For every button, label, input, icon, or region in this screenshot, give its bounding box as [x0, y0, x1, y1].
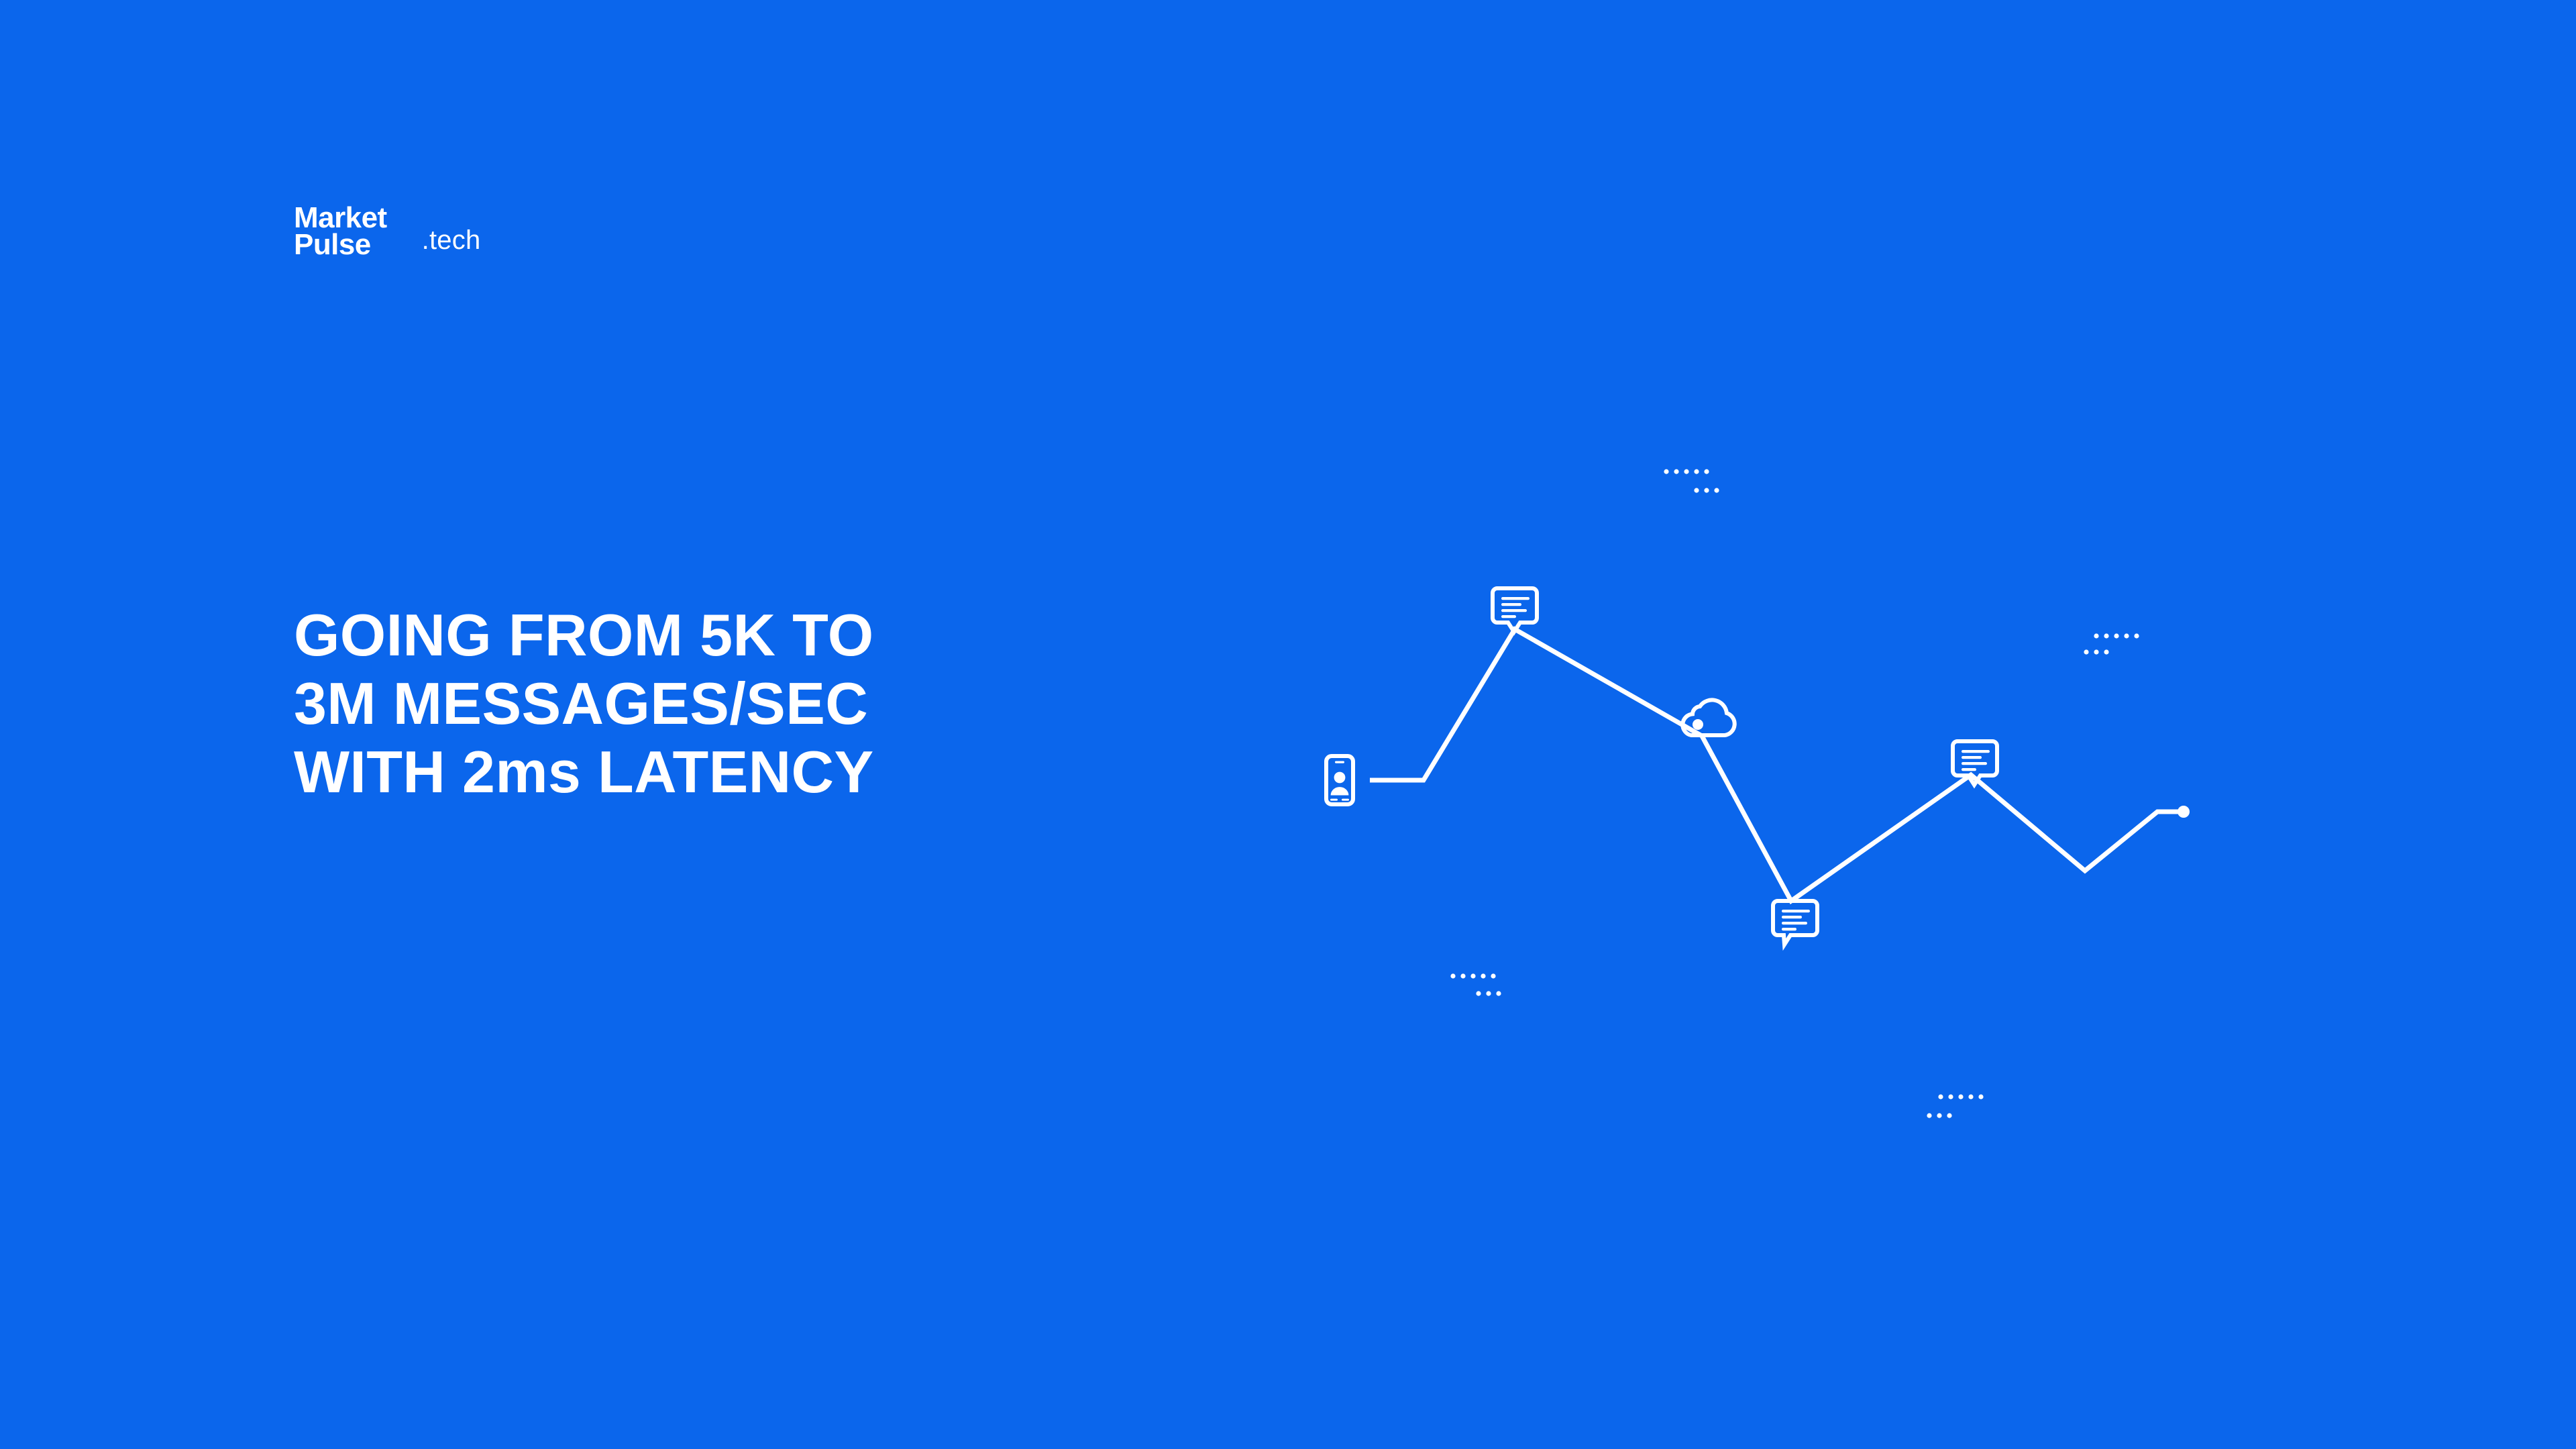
- flow-polyline: [1370, 629, 2181, 901]
- brand-name-line-1: Market: [294, 205, 387, 231]
- slide-canvas: Market Pulse .tech GOING FROM 5K TO 3M M…: [0, 0, 2576, 1449]
- headline-line-2: 3M MESSAGES/SEC: [294, 669, 1085, 738]
- chat-bubble-valley-icon: [1773, 901, 1817, 945]
- dot-cluster-top: [1664, 469, 1719, 492]
- page-title: GOING FROM 5K TO 3M MESSAGES/SEC WITH 2m…: [294, 601, 1085, 806]
- brand-name-line-2: Pulse: [294, 231, 387, 258]
- headline-line-3: WITH 2ms LATENCY: [294, 738, 1085, 806]
- cloud-icon: [1682, 700, 1734, 735]
- dot-cluster-lower-left: [1450, 973, 1501, 996]
- dot-cluster-bottom-right: [1927, 1094, 1983, 1118]
- chat-bubble-peak-icon: [1493, 588, 1537, 632]
- phone-user-icon: [1326, 756, 1353, 804]
- brand-wordmark: Market Pulse: [294, 205, 387, 258]
- line-end-dot: [2178, 806, 2190, 818]
- headline-line-1: GOING FROM 5K TO: [294, 601, 1085, 669]
- brand-tld-label: .tech: [422, 225, 481, 256]
- chat-bubble-right-icon: [1953, 741, 1997, 785]
- dot-cluster-right: [2084, 633, 2139, 654]
- brand-logo[interactable]: Market Pulse .tech: [294, 205, 480, 258]
